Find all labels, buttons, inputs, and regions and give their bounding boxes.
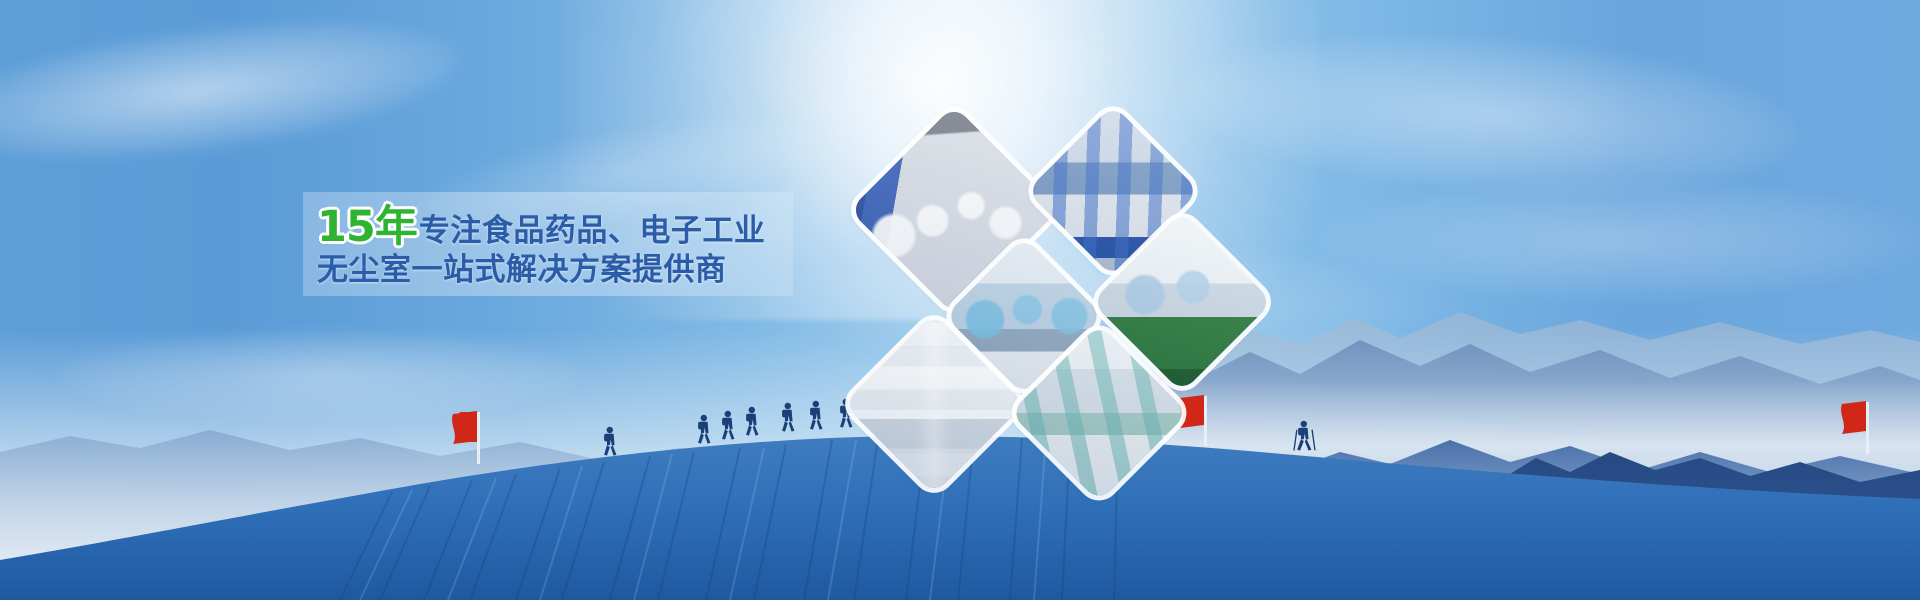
- hero-banner: 15年 专注食品药品、电子工业 无尘室一站式解决方案提供商: [0, 0, 1920, 600]
- photo-diamond-cluster: [840, 88, 1280, 468]
- headline-line-2: 无尘室一站式解决方案提供商: [317, 254, 793, 285]
- years-badge: 15年: [317, 206, 417, 249]
- headline-line-1-rest: 专注食品药品、电子工业: [419, 215, 766, 246]
- headline-line-1: 15年 专注食品药品、电子工业: [317, 206, 793, 249]
- headline-panel: 15年 专注食品药品、电子工业 无尘室一站式解决方案提供商: [303, 192, 793, 296]
